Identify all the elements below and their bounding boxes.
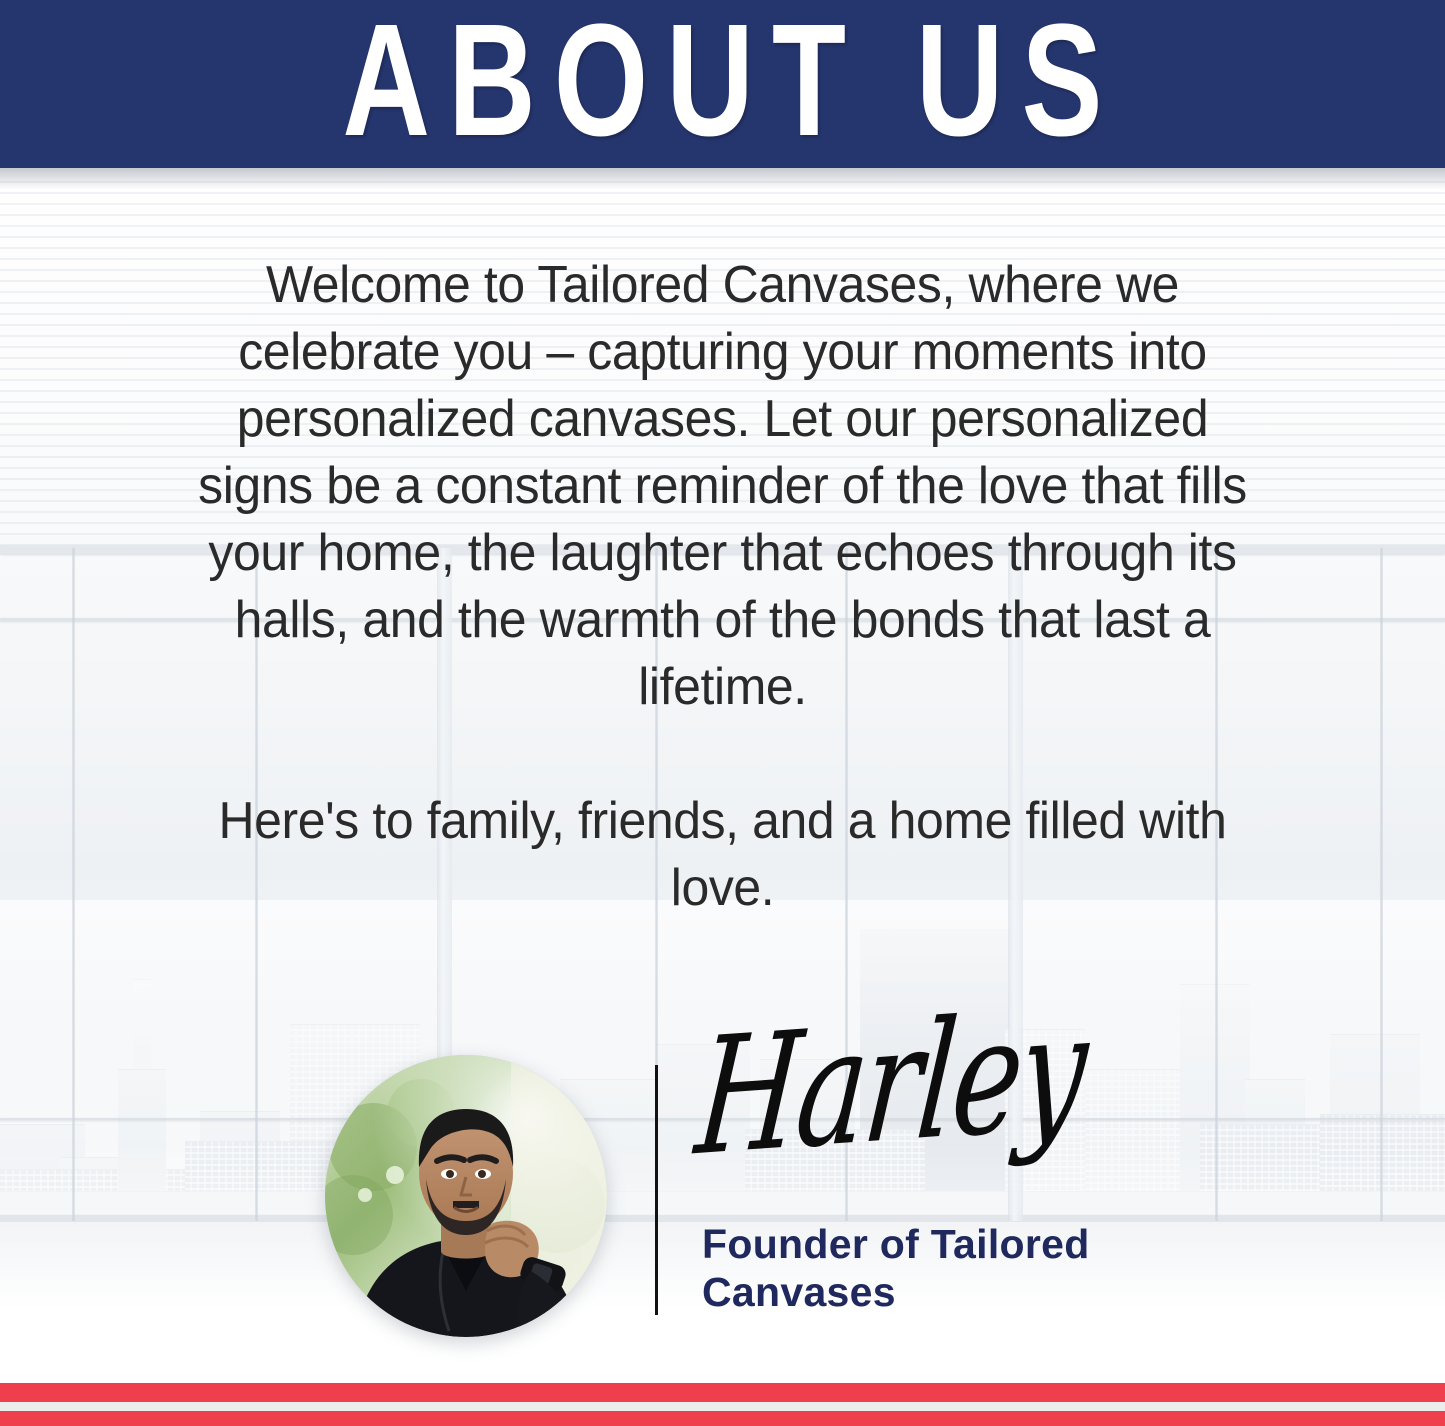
- avatar: [325, 1055, 607, 1337]
- about-copy: Welcome to Tailored Canvases, where we c…: [173, 252, 1272, 922]
- about-us-page: ABOUT US Welcome to Tailored Canvases, w…: [0, 0, 1445, 1426]
- about-paragraph-1: Welcome to Tailored Canvases, where we c…: [173, 252, 1272, 721]
- footer-stripe-gap: [0, 1402, 1445, 1411]
- founder-signature: Harley: [691, 991, 1091, 1179]
- footer-stripe-bottom: [0, 1411, 1445, 1426]
- founder-role-line-2: Canvases: [702, 1268, 1142, 1316]
- footer-stripe-top: [0, 1383, 1445, 1402]
- page-title: ABOUT US: [324, 1, 1120, 161]
- signature-block: Harley Founder of Tailored Canvases: [690, 1045, 1150, 1345]
- signature-divider: [655, 1065, 658, 1315]
- founder-block: Harley Founder of Tailored Canvases: [0, 1045, 1445, 1345]
- founder-role-line-1: Founder of Tailored: [702, 1220, 1142, 1268]
- paragraph-spacer: [173, 721, 1272, 788]
- founder-role: Founder of Tailored Canvases: [702, 1220, 1142, 1316]
- about-paragraph-2: Here's to family, friends, and a home fi…: [173, 788, 1272, 922]
- header-shadow: [0, 168, 1445, 190]
- page-header: ABOUT US: [0, 0, 1445, 168]
